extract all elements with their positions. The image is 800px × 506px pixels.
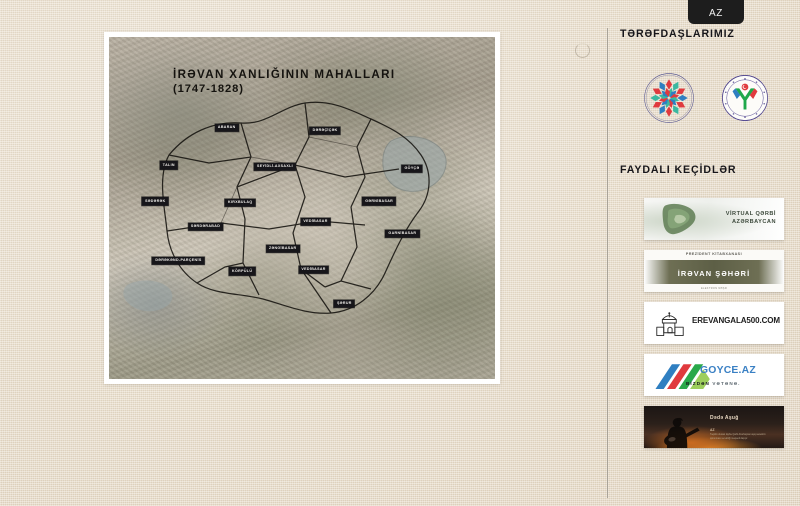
goyce-az-tagline: BİZDƏN VƏTƏNƏ.: [686, 381, 741, 386]
district-label[interactable]: SEYİDLİ-AXSAXLI: [254, 163, 296, 171]
district-label[interactable]: GARNİBASAR: [385, 229, 419, 237]
irevan-seheri-title: İRƏVAN ŞƏHƏRİ: [678, 269, 751, 278]
goyce-az-title: GOYCE.AZ: [700, 365, 756, 376]
azerbaijan-relief-map-icon: [658, 201, 702, 237]
irevan-seheri-footer: ELEKTRON NƏŞR: [701, 287, 727, 290]
loading-spinner-icon: [575, 43, 590, 58]
ashug-musician-icon: [658, 416, 702, 448]
district-label[interactable]: GƏRNİBASAR: [362, 197, 396, 205]
district-label[interactable]: VEDİBASAR: [298, 265, 329, 273]
erevangala500-title: EREVANGALA500.COM: [692, 316, 780, 325]
map-panel[interactable]: İRƏVAN XANLIĞININ MAHALLARI (1747-1828): [104, 32, 500, 384]
language-switcher-button[interactable]: AZ: [688, 0, 744, 24]
useful-links-card-list: VİRTUAL QƏRBİ AZƏRBAYCAN PREZİDENT KİTAB…: [618, 198, 794, 448]
goyce-tag-bold: BİZDƏN: [686, 381, 710, 386]
partners-heading: TƏRƏFDAŞLARIMIZ: [620, 28, 794, 40]
district-label[interactable]: ABARAN: [215, 123, 239, 131]
map-title: İRƏVAN XANLIĞININ MAHALLARI (1747-1828): [173, 68, 395, 96]
district-label[interactable]: GÖYÇƏ: [401, 164, 422, 172]
dedem-ashug-body: Təqdim olunan layihə Qərbi Azərbaycan aş…: [710, 434, 776, 441]
district-label[interactable]: SƏDƏRƏK: [142, 197, 169, 205]
partner-logo-qerbi-azerbaycan-icmasi[interactable]: [643, 72, 695, 124]
map-title-line2: (1747-1828): [173, 83, 395, 96]
card1-line1: VİRTUAL QƏRBİ: [726, 210, 776, 218]
district-label[interactable]: ŞƏRUR: [334, 300, 355, 308]
link-card-goyce-az[interactable]: GOYCE.AZ BİZDƏN VƏTƏNƏ.: [644, 354, 784, 396]
link-card-irevan-seheri[interactable]: PREZİDENT KİTABXANASI İRƏVAN ŞƏHƏRİ ELEK…: [644, 250, 784, 292]
district-label[interactable]: DƏRƏÇİÇƏK: [309, 127, 340, 135]
district-label[interactable]: KIRXBULAQ: [225, 199, 256, 207]
link-card-virtual-qerbi-azerbaycan[interactable]: VİRTUAL QƏRBİ AZƏRBAYCAN: [644, 198, 784, 240]
fortress-building-icon: [654, 308, 686, 338]
district-label[interactable]: SƏRDƏRABAD: [188, 223, 224, 231]
goyce-tag-light: VƏTƏNƏ.: [712, 381, 740, 386]
virtual-qerbi-azerbaycan-label: VİRTUAL QƏRBİ AZƏRBAYCAN: [726, 210, 776, 226]
dedem-ashug-badge: AZ: [710, 428, 715, 432]
district-label[interactable]: TALIN: [160, 161, 178, 169]
partner-logo-genc-elmler-akademiyasi[interactable]: [721, 74, 769, 122]
sidebar: TƏRƏFDAŞLARIMIZ: [618, 28, 794, 506]
qerbi-azerbaycan-icmasi-icon: [643, 72, 695, 124]
link-card-dedem-ashug[interactable]: Dədə Aşuğ AZ Təqdim olunan layihə Qərbi …: [644, 406, 784, 448]
sidebar-divider: [607, 28, 608, 498]
map-borders-overlay: [109, 37, 495, 379]
district-label[interactable]: KÖRPÜLÜ: [229, 267, 256, 275]
district-label[interactable]: VEDİBASAR: [300, 217, 331, 225]
useful-links-heading: FAYDALI KEÇİDLƏR: [620, 164, 794, 176]
genc-elmler-akademiyasi-icon: [721, 74, 769, 122]
district-label[interactable]: ZƏNGİBASAR: [266, 245, 300, 253]
dedem-ashug-title: Dədə Aşuğ: [710, 415, 739, 422]
district-label[interactable]: DƏRƏKƏND-PARÇENİS: [152, 257, 205, 265]
card1-line2: AZƏRBAYCAN: [726, 218, 776, 226]
irevan-seheri-subtitle: PREZİDENT KİTABXANASI: [686, 252, 742, 256]
map-image[interactable]: İRƏVAN XANLIĞININ MAHALLARI (1747-1828): [109, 37, 495, 379]
irevan-seheri-title-bar: İRƏVAN ŞƏHƏRİ: [644, 260, 784, 284]
partner-logo-row: [618, 70, 794, 126]
map-title-line1: İRƏVAN XANLIĞININ MAHALLARI: [173, 68, 395, 81]
link-card-erevangala500[interactable]: EREVANGALA500.COM: [644, 302, 784, 344]
